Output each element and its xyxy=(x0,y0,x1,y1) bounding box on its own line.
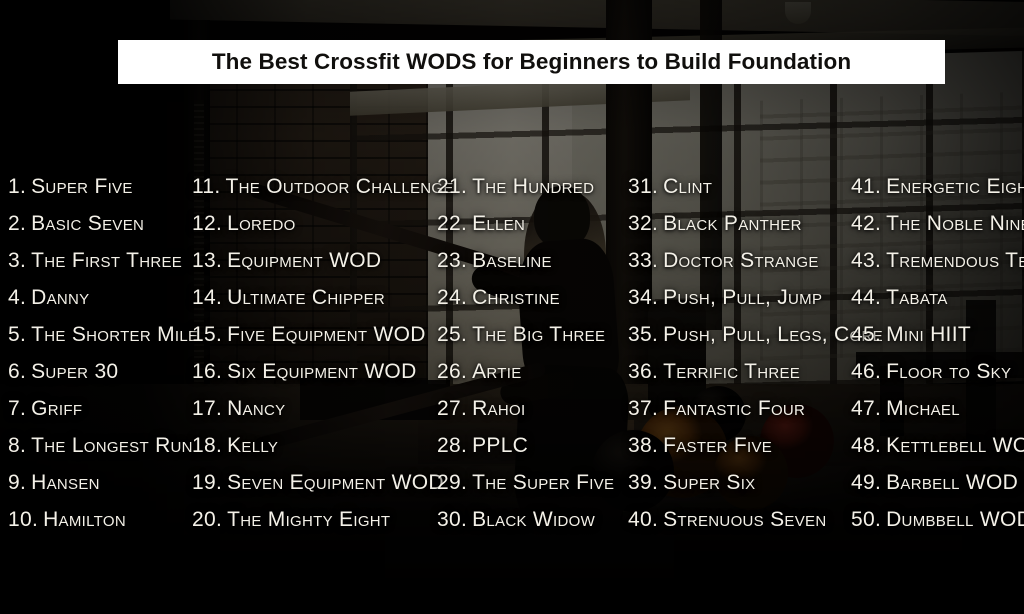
page-title: The Best Crossfit WODS for Beginners to … xyxy=(212,49,851,75)
wod-list-item: 36.Terrific Three xyxy=(628,353,852,390)
wod-item-label: Hansen xyxy=(31,471,100,494)
wod-item-number: 22. xyxy=(437,212,467,235)
wod-item-label: Danny xyxy=(31,286,89,309)
wod-item-label: Clint xyxy=(663,175,712,198)
wod-item-label: Baseline xyxy=(472,249,552,272)
wod-list-item: 5.The Shorter Mile xyxy=(8,316,194,353)
wod-item-label: Loredo xyxy=(227,212,295,235)
wod-item-number: 34. xyxy=(628,286,658,309)
wod-list-item: 7.Griff xyxy=(8,390,194,427)
wod-item-label: Doctor Strange xyxy=(663,249,819,272)
wod-list-item: 10.Hamilton xyxy=(8,501,194,538)
wod-item-label: Kettlebell WOD xyxy=(886,434,1024,457)
wod-list-item: 38.Faster Five xyxy=(628,427,852,464)
wod-column-2: 11.The Outdoor Challenge12.Loredo13.Equi… xyxy=(192,168,438,538)
wod-item-number: 26. xyxy=(437,360,467,383)
wod-item-label: The Noble Nine xyxy=(886,212,1024,235)
wod-list-item: 46.Floor to Sky xyxy=(851,353,1024,390)
wod-list-item: 3.The First Three xyxy=(8,242,194,279)
wod-list-item: 31.Clint xyxy=(628,168,852,205)
wod-item-number: 32. xyxy=(628,212,658,235)
wod-item-label: Hamilton xyxy=(43,508,126,531)
wod-item-label: Super 30 xyxy=(31,360,118,383)
wod-item-label: The First Three xyxy=(31,249,182,272)
wod-list-item: 44.Tabata xyxy=(851,279,1024,316)
wod-list-item: 45.Mini HIIT xyxy=(851,316,1024,353)
wod-item-number: 36. xyxy=(628,360,658,383)
wod-item-number: 2. xyxy=(8,212,26,235)
wod-item-number: 4. xyxy=(8,286,26,309)
wod-list-item: 41.Energetic Eight xyxy=(851,168,1024,205)
wod-item-number: 42. xyxy=(851,212,881,235)
wod-item-number: 1. xyxy=(8,175,26,198)
wod-item-number: 16. xyxy=(192,360,222,383)
wod-list-item: 47.Michael xyxy=(851,390,1024,427)
wod-list-item: 30.Black Widow xyxy=(437,501,629,538)
wod-item-label: Push, Pull, Legs, Core xyxy=(663,323,883,346)
wod-item-number: 5. xyxy=(8,323,26,346)
wod-item-number: 29. xyxy=(437,471,467,494)
wod-list-item: 21.The Hundred xyxy=(437,168,629,205)
wod-item-label: Push, Pull, Jump xyxy=(663,286,822,309)
wod-item-number: 6. xyxy=(8,360,26,383)
wod-item-number: 47. xyxy=(851,397,881,420)
wod-item-number: 24. xyxy=(437,286,467,309)
wod-list-item: 32.Black Panther xyxy=(628,205,852,242)
wod-item-label: Artie xyxy=(472,360,521,383)
wod-item-number: 9. xyxy=(8,471,26,494)
wod-item-number: 8. xyxy=(8,434,26,457)
wod-list-item: 19.Seven Equipment WOD xyxy=(192,464,438,501)
wod-list-item: 1.Super Five xyxy=(8,168,194,205)
wod-item-number: 15. xyxy=(192,323,222,346)
wod-item-number: 12. xyxy=(192,212,222,235)
wod-item-number: 38. xyxy=(628,434,658,457)
wod-item-number: 46. xyxy=(851,360,881,383)
wod-item-label: Ellen xyxy=(472,212,525,235)
wod-item-number: 25. xyxy=(437,323,467,346)
wod-list-item: 24.Christine xyxy=(437,279,629,316)
wod-item-number: 39. xyxy=(628,471,658,494)
wod-list-item: 42.The Noble Nine xyxy=(851,205,1024,242)
wod-list-item: 6.Super 30 xyxy=(8,353,194,390)
wod-list-item: 37.Fantastic Four xyxy=(628,390,852,427)
wod-item-number: 27. xyxy=(437,397,467,420)
wod-item-number: 41. xyxy=(851,175,881,198)
wod-item-number: 33. xyxy=(628,249,658,272)
wod-item-number: 18. xyxy=(192,434,222,457)
wod-list-item: 39.Super Six xyxy=(628,464,852,501)
wod-item-label: Super Six xyxy=(663,471,755,494)
wod-list-item: 15.Five Equipment WOD xyxy=(192,316,438,353)
wod-list-item: 22.Ellen xyxy=(437,205,629,242)
wod-list-item: 27.Rahoi xyxy=(437,390,629,427)
wod-list-item: 26.Artie xyxy=(437,353,629,390)
wod-item-number: 31. xyxy=(628,175,658,198)
wod-item-label: Floor to Sky xyxy=(886,360,1011,383)
wod-list-item: 14.Ultimate Chipper xyxy=(192,279,438,316)
wod-list-item: 34.Push, Pull, Jump xyxy=(628,279,852,316)
wod-item-label: The Shorter Mile xyxy=(31,323,198,346)
wod-item-label: The Longest Run xyxy=(31,434,193,457)
wod-column-4: 31.Clint32.Black Panther33.Doctor Strang… xyxy=(628,168,852,538)
wod-item-label: Nancy xyxy=(227,397,285,420)
wod-item-label: The Super Five xyxy=(472,471,614,494)
wod-list-item: 25.The Big Three xyxy=(437,316,629,353)
wod-list-item: 17.Nancy xyxy=(192,390,438,427)
wod-item-number: 19. xyxy=(192,471,222,494)
wod-list-item: 12.Loredo xyxy=(192,205,438,242)
wod-item-label: Kelly xyxy=(227,434,278,457)
wod-column-3: 21.The Hundred22.Ellen23.Baseline24.Chri… xyxy=(437,168,629,538)
wod-item-label: Fantastic Four xyxy=(663,397,805,420)
wod-item-label: The Mighty Eight xyxy=(227,508,390,531)
wod-item-number: 43. xyxy=(851,249,881,272)
wod-item-number: 3. xyxy=(8,249,26,272)
wod-list-item: 50.Dumbbell WOD xyxy=(851,501,1024,538)
wod-item-label: The Hundred xyxy=(472,175,594,198)
wod-item-label: Equipment WOD xyxy=(227,249,381,272)
wod-list-item: 18.Kelly xyxy=(192,427,438,464)
wod-list-item: 49.Barbell WOD xyxy=(851,464,1024,501)
wod-item-number: 7. xyxy=(8,397,26,420)
wod-item-number: 50. xyxy=(851,508,881,531)
wod-column-1: 1.Super Five2.Basic Seven3.The First Thr… xyxy=(8,168,194,538)
wod-item-number: 49. xyxy=(851,471,881,494)
wod-list-item: 48.Kettlebell WOD xyxy=(851,427,1024,464)
wod-item-label: Tremendous Ten xyxy=(886,249,1024,272)
wod-list-item: 35.Push, Pull, Legs, Core xyxy=(628,316,852,353)
wod-item-label: PPLC xyxy=(472,434,528,457)
wod-item-number: 45. xyxy=(851,323,881,346)
wod-list-item: 16.Six Equipment WOD xyxy=(192,353,438,390)
wod-item-number: 23. xyxy=(437,249,467,272)
wod-item-label: Basic Seven xyxy=(31,212,144,235)
wod-column-5: 41.Energetic Eight42.The Noble Nine43.Tr… xyxy=(851,168,1024,538)
wod-item-label: Griff xyxy=(31,397,82,420)
wod-list: 1.Super Five2.Basic Seven3.The First Thr… xyxy=(0,168,1024,538)
wod-list-item: 4.Danny xyxy=(8,279,194,316)
wod-item-number: 10. xyxy=(8,508,38,531)
wod-item-label: Super Five xyxy=(31,175,133,198)
wod-item-label: Michael xyxy=(886,397,960,420)
wod-item-label: Black Widow xyxy=(472,508,595,531)
wod-item-number: 30. xyxy=(437,508,467,531)
wod-item-label: Ultimate Chipper xyxy=(227,286,385,309)
wod-item-label: The Big Three xyxy=(472,323,605,346)
wod-item-label: Dumbbell WOD xyxy=(886,508,1024,531)
wod-item-number: 44. xyxy=(851,286,881,309)
wod-item-label: Terrific Three xyxy=(663,360,800,383)
wod-item-label: Barbell WOD xyxy=(886,471,1018,494)
wod-item-label: Energetic Eight xyxy=(886,175,1024,198)
wod-item-label: Five Equipment WOD xyxy=(227,323,426,346)
wod-item-label: Seven Equipment WOD xyxy=(227,471,444,494)
wod-item-label: Faster Five xyxy=(663,434,772,457)
wod-list-item: 33.Doctor Strange xyxy=(628,242,852,279)
wod-item-number: 13. xyxy=(192,249,222,272)
wod-item-label: Mini HIIT xyxy=(886,323,971,346)
wod-list-item: 8.The Longest Run xyxy=(8,427,194,464)
wod-list-item: 11.The Outdoor Challenge xyxy=(192,168,438,205)
wod-list-item: 9.Hansen xyxy=(8,464,194,501)
wod-item-number: 11. xyxy=(192,175,221,198)
title-banner: The Best Crossfit WODS for Beginners to … xyxy=(118,40,945,84)
wod-item-number: 35. xyxy=(628,323,658,346)
wod-item-label: Black Panther xyxy=(663,212,802,235)
wod-list-item: 2.Basic Seven xyxy=(8,205,194,242)
wod-item-number: 40. xyxy=(628,508,658,531)
wod-item-number: 17. xyxy=(192,397,222,420)
wod-list-item: 40.Strenuous Seven xyxy=(628,501,852,538)
wod-list-item: 23.Baseline xyxy=(437,242,629,279)
wod-item-number: 14. xyxy=(192,286,222,309)
wod-list-item: 13.Equipment WOD xyxy=(192,242,438,279)
wod-item-label: Strenuous Seven xyxy=(663,508,826,531)
wod-item-label: Christine xyxy=(472,286,560,309)
wod-item-number: 21. xyxy=(437,175,467,198)
wod-item-number: 48. xyxy=(851,434,881,457)
wod-list-item: 29.The Super Five xyxy=(437,464,629,501)
wod-list-item: 28.PPLC xyxy=(437,427,629,464)
wod-list-item: 20.The Mighty Eight xyxy=(192,501,438,538)
wod-list-item: 43.Tremendous Ten xyxy=(851,242,1024,279)
wod-item-number: 20. xyxy=(192,508,222,531)
poster-canvas: The Best Crossfit WODS for Beginners to … xyxy=(0,0,1024,614)
wod-item-number: 28. xyxy=(437,434,467,457)
wod-item-label: The Outdoor Challenge xyxy=(226,175,454,198)
wod-item-label: Tabata xyxy=(886,286,948,309)
wod-item-label: Rahoi xyxy=(472,397,525,420)
wod-item-number: 37. xyxy=(628,397,658,420)
wod-item-label: Six Equipment WOD xyxy=(227,360,416,383)
